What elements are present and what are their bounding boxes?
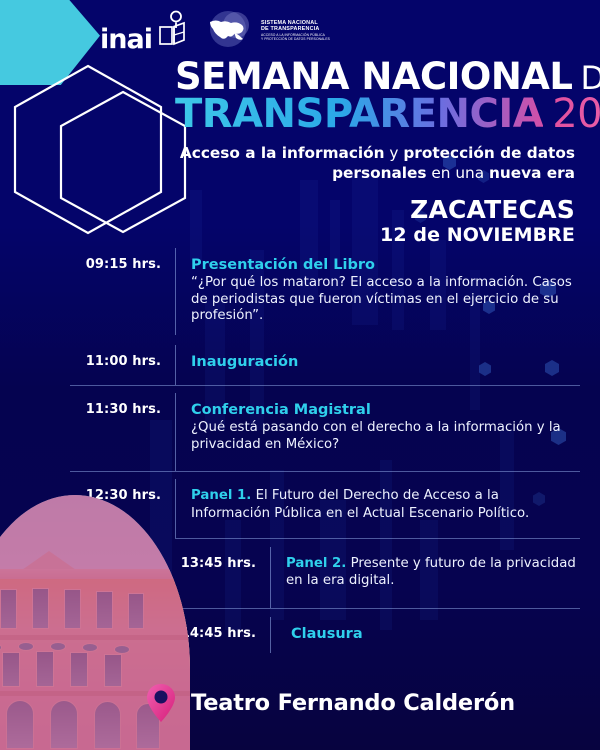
venue-name: Teatro Fernando Calderón	[191, 690, 515, 716]
event-city: ZACATECAS	[175, 196, 575, 224]
hexagon-outline-small	[55, 88, 191, 236]
subtitle-part-2: y	[385, 144, 404, 162]
schedule-title: Clausura	[286, 625, 580, 643]
schedule-body: Panel 1. El Futuro del Derecho de Acceso…	[175, 479, 600, 538]
schedule-body: Inauguración	[175, 345, 600, 385]
schedule-row: 11:00 hrs. Inauguración	[0, 345, 600, 385]
inai-wordmark: inai	[100, 26, 152, 53]
schedule-description: “¿Por qué los mataron? El acceso a la in…	[191, 275, 580, 325]
schedule-row: 11:30 hrs. Conferencia Magistral ¿Qué es…	[0, 393, 600, 471]
person-cube-icon	[156, 10, 186, 53]
title-year: 2024	[552, 91, 600, 137]
schedule-row: 09:15 hrs. Presentación del Libro “¿Por …	[0, 248, 600, 335]
subtitle-part-4: personales	[332, 164, 426, 182]
schedule-inline-text: Panel 2. Presente y futuro de la privaci…	[286, 555, 580, 590]
snt-line-4: y Protección de Datos Personales	[261, 38, 330, 41]
schedule-divider	[70, 471, 580, 472]
schedule-inline-text: Panel 1. El Futuro del Derecho de Acceso…	[191, 487, 580, 522]
title-block: SEMANA NACIONALDE TRANSPARENCIA2024 Acce…	[175, 58, 575, 247]
title-transparencia: TRANSPARENCIA	[175, 91, 543, 137]
event-title-line2: TRANSPARENCIA2024	[175, 94, 575, 135]
header-logos: inai	[100, 8, 330, 55]
location-pin-icon	[145, 682, 177, 724]
schedule-title: Conferencia Magistral	[191, 401, 580, 419]
schedule-time: 11:30 hrs.	[0, 393, 175, 471]
schedule-time: 11:00 hrs.	[0, 345, 175, 385]
schedule-title: Panel 2.	[286, 556, 346, 571]
schedule-body: Clausura	[270, 617, 600, 653]
schedule-divider	[175, 538, 580, 539]
subtitle-part-6: nueva era	[489, 164, 575, 182]
subtitle-part-3: protección de datos	[403, 144, 575, 162]
schedule-title: Inauguración	[191, 353, 580, 371]
schedule-divider	[175, 608, 580, 609]
schedule-body: Panel 2. Presente y futuro de la privaci…	[270, 547, 600, 608]
schedule-body: Conferencia Magistral ¿Qué está pasando …	[175, 393, 600, 471]
event-date: 12 de NOVIEMBRE	[175, 224, 575, 247]
schedule-description: ¿Qué está pasando con el derecho a la in…	[191, 420, 580, 453]
subtitle-part-1: Acceso a la información	[180, 144, 385, 162]
schedule-title: Presentación del Libro	[191, 256, 580, 274]
poster-canvas: inai	[0, 0, 600, 750]
inai-logo[interactable]: inai	[100, 10, 186, 53]
schedule-divider	[70, 385, 580, 386]
subtitle-part-5: en una	[427, 164, 489, 182]
sistema-nacional-transparencia-logo[interactable]: Sistema Nacional de Transparencia Acceso…	[204, 8, 330, 55]
schedule-time: 09:15 hrs.	[0, 248, 175, 335]
schedule-title: Panel 1.	[191, 488, 251, 503]
snt-line-2: de Transparencia	[261, 27, 330, 33]
mexico-map-icon	[204, 8, 256, 55]
schedule-body: Presentación del Libro “¿Por qué los mat…	[175, 248, 600, 335]
venue-footer: Teatro Fernando Calderón	[0, 682, 600, 724]
event-subtitle: Acceso a la información y protección de …	[175, 144, 575, 183]
